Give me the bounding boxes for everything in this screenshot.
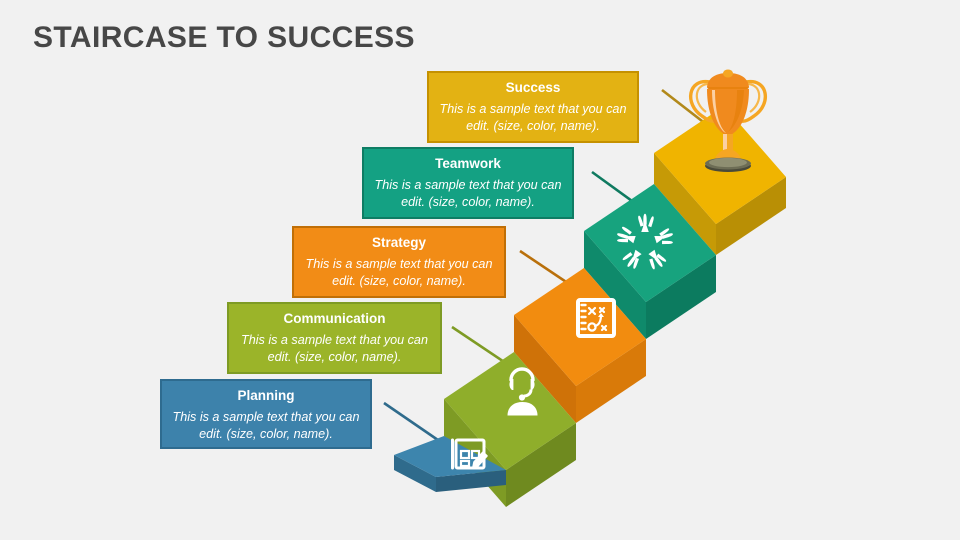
page-title: STAIRCASE TO SUCCESS [33, 21, 415, 55]
callout-communication-body: This is a sample text that you can edit.… [239, 332, 430, 366]
callout-success-title: Success [439, 79, 627, 96]
step-planning-front [394, 455, 436, 492]
callout-planning[interactable]: Planning This is a sample text that you … [160, 379, 372, 449]
step-planning-top [394, 436, 506, 477]
step-success[interactable] [654, 106, 786, 255]
step-planning[interactable] [394, 436, 506, 492]
callout-strategy-body: This is a sample text that you can edit.… [304, 256, 494, 290]
step-strategy-front [514, 315, 576, 423]
callout-strategy-title: Strategy [304, 234, 494, 251]
step-strategy[interactable] [514, 268, 646, 423]
callout-teamwork-title: Teamwork [374, 155, 562, 172]
connector-communication [452, 327, 540, 386]
connector-teamwork [592, 172, 672, 230]
callout-communication[interactable]: Communication This is a sample text that… [227, 302, 442, 374]
step-planning-side [436, 470, 506, 492]
blueprint-pencil-icon [453, 440, 488, 468]
step-communication-front [444, 399, 506, 507]
strategy-board-icon [578, 300, 614, 336]
connector-strategy [520, 251, 605, 308]
connector-success [662, 90, 742, 152]
step-teamwork[interactable] [584, 184, 716, 339]
callout-teamwork[interactable]: Teamwork This is a sample text that you … [362, 147, 574, 219]
connector-planning [384, 403, 470, 462]
step-teamwork-side [646, 255, 716, 339]
callout-communication-title: Communication [239, 310, 430, 327]
callout-success-body: This is a sample text that you can edit.… [439, 101, 627, 135]
trophy-icon [691, 70, 766, 173]
step-communication-side [506, 423, 576, 507]
callout-planning-title: Planning [172, 387, 360, 404]
slide-canvas: STAIRCASE TO SUCCESS [0, 0, 960, 540]
step-communication[interactable] [444, 352, 576, 507]
callout-success[interactable]: Success This is a sample text that you c… [427, 71, 639, 143]
step-strategy-side [576, 339, 646, 423]
headset-person-icon [508, 369, 538, 416]
step-success-side [716, 177, 786, 255]
callout-teamwork-body: This is a sample text that you can edit.… [374, 177, 562, 211]
step-success-top [654, 106, 786, 224]
joined-hands-icon [615, 214, 676, 272]
step-success-front [654, 153, 716, 255]
callout-planning-body: This is a sample text that you can edit.… [172, 409, 360, 443]
callout-strategy[interactable]: Strategy This is a sample text that you … [292, 226, 506, 298]
step-communication-top [444, 352, 576, 470]
step-strategy-top [514, 268, 646, 386]
step-teamwork-top [584, 184, 716, 302]
step-teamwork-front [584, 231, 646, 339]
